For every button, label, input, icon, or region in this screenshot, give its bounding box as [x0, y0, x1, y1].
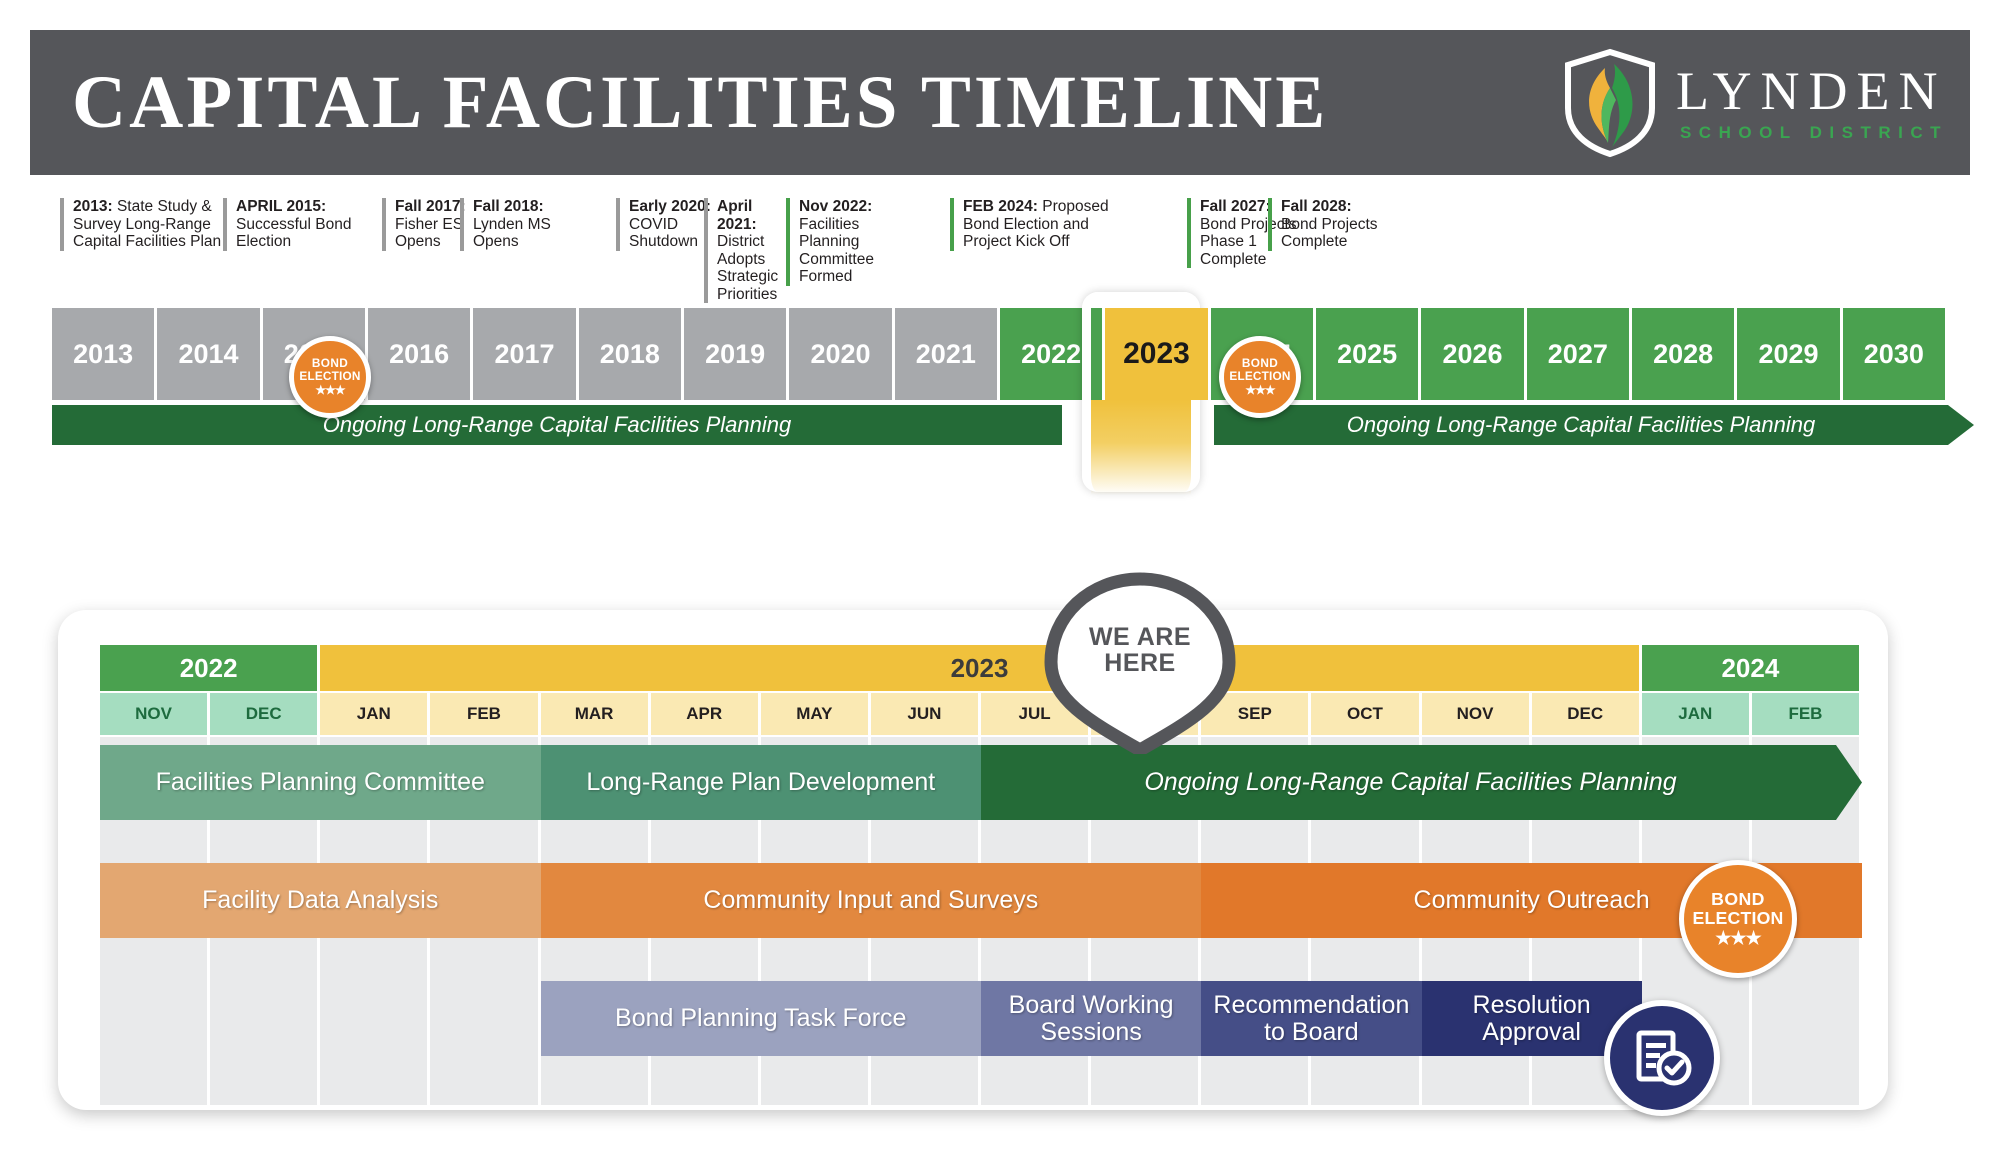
timeline-year-2014[interactable]: 2014	[157, 308, 262, 400]
timeline-year-2016[interactable]: 2016	[368, 308, 473, 400]
detail-bar-label: Recommendation to Board	[1201, 992, 1421, 1045]
detail-month-jan-2[interactable]: JAN	[320, 693, 430, 735]
detail-month-label: FEB	[467, 704, 501, 724]
bond-election-badge-2024: BOND ELECTION ★★★	[1219, 336, 1301, 418]
detail-month-label: FEB	[1788, 704, 1822, 724]
we-are-here-pin: WE ARE HERE	[1031, 572, 1249, 754]
timeline-event-5: Early 2020: COVID Shutdown	[616, 198, 711, 251]
timeline-year-2018[interactable]: 2018	[579, 308, 684, 400]
detail-bar-community-row-2[interactable]: Community Input and Surveys	[541, 863, 1202, 938]
timeline-event-7: Nov 2022: Facilities Planning Committee …	[786, 198, 879, 286]
timeline-event-date: Fall 2027:	[1200, 198, 1271, 215]
bond-badge-line2: ELECTION	[1692, 910, 1783, 928]
timeline-event-1: 2013: State Study & Survey Long-Range Ca…	[60, 198, 233, 251]
detail-month-apr-5[interactable]: APR	[651, 693, 761, 735]
timeline-event-2: APRIL 2015: Successful Bond Election	[223, 198, 386, 251]
detail-bar-label: Facilities Planning Committee	[156, 769, 485, 795]
map-pin-icon	[1031, 572, 1249, 754]
detail-bar-label: Community Input and Surveys	[703, 887, 1038, 913]
bond-election-badge-detail: BOND ELECTION ★★★	[1679, 860, 1797, 978]
timeline-event-date: Fall 2028:	[1281, 198, 1352, 215]
detail-month-label: DEC	[1567, 704, 1603, 724]
detail-month-label: MAR	[575, 704, 614, 724]
timeline-year-label: 2025	[1337, 339, 1397, 370]
timeline-event-date: 2013:	[73, 198, 113, 215]
detail-year-header-label: 2023	[951, 653, 1009, 684]
timeline-event-text: Bond Projects Complete	[1281, 216, 1378, 251]
timeline-event-date: Nov 2022:	[799, 198, 872, 215]
timeline-year-2019[interactable]: 2019	[684, 308, 789, 400]
timeline-year-label: 2021	[916, 339, 976, 370]
detail-year-header-2023: 2023	[320, 645, 1642, 691]
timeline-year-label: 2027	[1548, 339, 1608, 370]
timeline-year-2027[interactable]: 2027	[1527, 308, 1632, 400]
logo-tagline: SCHOOL DISTRICT	[1680, 124, 1948, 141]
detail-year-header-label: 2022	[180, 653, 238, 684]
timeline-year-label: 2020	[810, 339, 870, 370]
timeline-event-date: Fall 2018:	[473, 198, 544, 215]
timeline-event-text: Successful Bond Election	[236, 216, 351, 251]
detail-month-nov-12[interactable]: NOV	[1422, 693, 1532, 735]
bond-badge-line2: ELECTION	[1229, 371, 1290, 383]
timeline-event-text: COVID Shutdown	[629, 216, 698, 251]
detail-chart-grid: 202220232024NOVDECJANFEBMARAPRMAYJUNJULA…	[100, 645, 1862, 1105]
timeline-year-label: 2029	[1758, 339, 1818, 370]
timeline-event-labels: 2013: State Study & Survey Long-Range Ca…	[60, 198, 1940, 308]
detail-month-nov-0[interactable]: NOV	[100, 693, 210, 735]
detail-bar-planning-row-1[interactable]: Facilities Planning Committee	[100, 745, 541, 820]
timeline-year-2020[interactable]: 2020	[789, 308, 894, 400]
timeline-event-date: April 2021:	[717, 198, 757, 233]
timeline-year-2030[interactable]: 2030	[1843, 308, 1948, 400]
timeline-event-text: Facilities Planning Committee Formed	[799, 216, 874, 286]
detail-month-feb-3[interactable]: FEB	[430, 693, 540, 735]
timeline-year-label: 2013	[73, 339, 133, 370]
timeline-year-label: 2014	[178, 339, 238, 370]
timeline-year-label: 2028	[1653, 339, 1713, 370]
timeline-event-8: FEB 2024: Proposed Bond Election and Pro…	[950, 198, 1133, 251]
timeline-year-label: 2022	[1021, 339, 1081, 370]
timeline-event-date: Early 2020:	[629, 198, 711, 215]
detail-bar-label: Ongoing Long-Range Capital Facilities Pl…	[1144, 769, 1676, 795]
ballot-check-icon	[1604, 1000, 1720, 1116]
timeline-year-2025[interactable]: 2025	[1316, 308, 1421, 400]
detail-bar-planning-row-3[interactable]: Ongoing Long-Range Capital Facilities Pl…	[981, 745, 1862, 820]
timeline-year-2017[interactable]: 2017	[473, 308, 578, 400]
bond-badge-stars: ★★★	[315, 384, 344, 396]
timeline-year-label: 2023	[1123, 337, 1190, 371]
detail-month-label: NOV	[135, 704, 172, 724]
detail-month-label: MAY	[796, 704, 832, 724]
detail-month-label: NOV	[1457, 704, 1494, 724]
detail-month-label: APR	[686, 704, 722, 724]
detail-month-label: OCT	[1347, 704, 1383, 724]
bond-badge-line2: ELECTION	[299, 371, 360, 383]
timeline-event-4: Fall 2018: Lynden MS Opens	[460, 198, 563, 251]
timeline-year-label: 2026	[1442, 339, 1502, 370]
detail-month-label: JAN	[1678, 704, 1712, 724]
timeline-year-2013[interactable]: 2013	[52, 308, 157, 400]
current-year-glow	[1091, 400, 1191, 495]
detail-month-label: JAN	[357, 704, 391, 724]
detail-bar-label: Community Outreach	[1414, 887, 1650, 913]
timeline-year-2022[interactable]: 2022	[1000, 308, 1105, 400]
detail-month-jan-14[interactable]: JAN	[1642, 693, 1752, 735]
timeline-year-2028[interactable]: 2028	[1632, 308, 1737, 400]
bond-badge-stars: ★★★	[1715, 929, 1760, 947]
detail-bar-planning-row-2[interactable]: Long-Range Plan Development	[541, 745, 982, 820]
page-header: CAPITAL FACILITIES TIMELINE LYNDEN SCHOO…	[30, 30, 1970, 175]
detail-month-dec-1[interactable]: DEC	[210, 693, 320, 735]
timeline-event-date: APRIL 2015:	[236, 198, 326, 215]
bond-badge-line1: BOND	[1711, 891, 1765, 909]
timeline-year-label: 2016	[389, 339, 449, 370]
detail-month-dec-13[interactable]: DEC	[1532, 693, 1642, 735]
detail-bar-label: Facility Data Analysis	[202, 887, 438, 913]
detail-month-label: DEC	[246, 704, 282, 724]
detail-month-feb-15[interactable]: FEB	[1752, 693, 1862, 735]
detail-year-header-label: 2024	[1721, 653, 1779, 684]
timeline-year-label: 2017	[494, 339, 554, 370]
timeline-year-2029[interactable]: 2029	[1737, 308, 1842, 400]
ongoing-planning-banner-right: Ongoing Long-Range Capital Facilities Pl…	[1214, 405, 1974, 445]
detail-month-label: JUN	[907, 704, 941, 724]
district-logo: LYNDEN SCHOOL DISTRICT	[1562, 48, 1948, 158]
bond-badge-line1: BOND	[312, 358, 348, 370]
detail-bar-board-row-1[interactable]: Bond Planning Task Force	[541, 981, 982, 1056]
timeline-year-label: 2018	[600, 339, 660, 370]
timeline-event-date: FEB 2024:	[963, 198, 1038, 215]
timeline-event-10: Fall 2028: Bond Projects Complete	[1268, 198, 1391, 251]
logo-wordmark: LYNDEN	[1676, 64, 1948, 118]
detail-month-mar-4[interactable]: MAR	[541, 693, 651, 735]
bond-badge-stars: ★★★	[1245, 384, 1274, 396]
detail-year-header-2022: 2022	[100, 645, 320, 691]
timeline-event-6: April 2021: District Adopts Strategic Pr…	[704, 198, 795, 303]
bond-election-badge-2015: BOND ELECTION ★★★	[289, 336, 371, 418]
ballot-check-glyph	[1631, 1027, 1693, 1089]
detail-bar-community-row-1[interactable]: Facility Data Analysis	[100, 863, 541, 938]
timeline-year-2021[interactable]: 2021	[895, 308, 1000, 400]
lynden-shield-flame-icon	[1562, 48, 1658, 158]
timeline-event-text: Lynden MS Opens	[473, 216, 551, 251]
detail-bar-label: Bond Planning Task Force	[615, 1005, 906, 1031]
timeline-event-3: Fall 2017: Fisher ES Opens	[382, 198, 467, 251]
timeline-year-label: 2019	[705, 339, 765, 370]
detail-bar-board-row-2[interactable]: Board Working Sessions	[981, 981, 1201, 1056]
detail-bar-board-row-3[interactable]: Recommendation to Board	[1201, 981, 1421, 1056]
detail-bar-label: Board Working Sessions	[981, 992, 1201, 1045]
detail-month-oct-11[interactable]: OCT	[1311, 693, 1421, 735]
timeline-year-2023[interactable]: 2023	[1105, 308, 1210, 400]
detail-month-jun-7[interactable]: JUN	[871, 693, 981, 735]
timeline-year-label: 2030	[1864, 339, 1924, 370]
detail-month-may-6[interactable]: MAY	[761, 693, 871, 735]
detail-bar-label: Long-Range Plan Development	[586, 769, 935, 795]
timeline-event-text: District Adopts Strategic Priorities	[717, 233, 778, 303]
timeline-year-2026[interactable]: 2026	[1421, 308, 1526, 400]
detail-year-header-2024: 2024	[1642, 645, 1862, 691]
timeline-event-text: Fisher ES Opens	[395, 216, 463, 251]
page-title: CAPITAL FACILITIES TIMELINE	[72, 60, 1328, 146]
timeline-event-date: Fall 2017:	[395, 198, 466, 215]
ongoing-planning-banner-left: Ongoing Long-Range Capital Facilities Pl…	[52, 405, 1062, 445]
bond-badge-line1: BOND	[1242, 358, 1278, 370]
